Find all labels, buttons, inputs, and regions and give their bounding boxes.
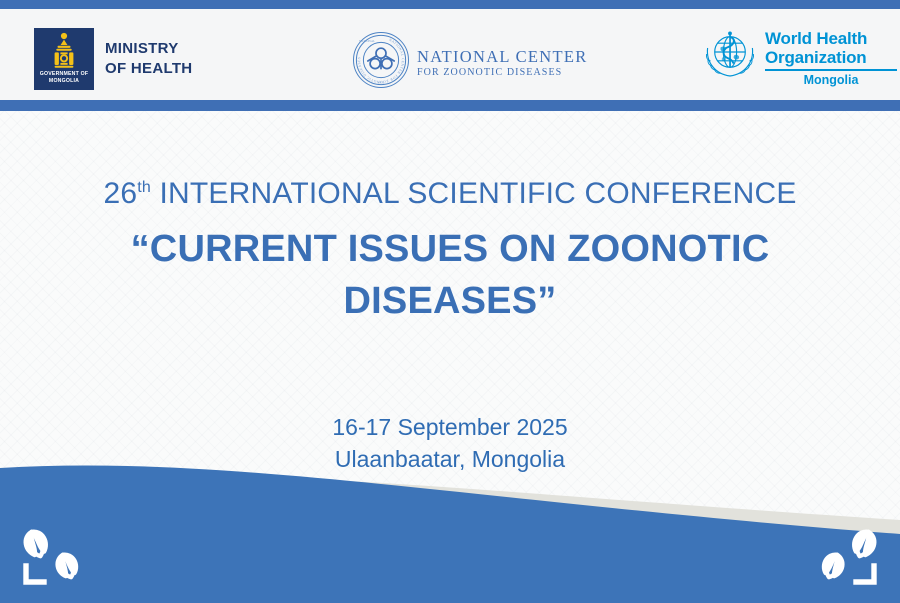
ministry-name: MINISTRY OF HEALTH: [105, 39, 192, 79]
biohazard-seal-icon: 1931 NATIONAL NATIONAL CENTER FOR ZOONOT…: [352, 31, 410, 94]
conference-title-slide: GOVERNMENT OF MONGOLIA MINISTRY OF HEALT…: [0, 0, 900, 603]
emblem-caption-line2: MONGOLIA: [34, 78, 94, 85]
event-date: 16-17 September 2025: [0, 411, 900, 443]
government-of-mongolia-emblem: GOVERNMENT OF MONGOLIA: [34, 28, 94, 90]
conference-subtitle-line: 26th INTERNATIONAL SCIENTIFIC CONFERENCE: [0, 174, 900, 214]
who-divider: [765, 69, 897, 71]
page-title: “CURRENT ISSUES ON ZOONOTIC DISEASES”: [0, 223, 900, 327]
who-rod-of-asclepius-icon: [703, 29, 757, 84]
emblem-caption-line1: GOVERNMENT OF: [34, 71, 94, 78]
top-accent-bar: [0, 0, 900, 9]
who-name: World Health Organization Mongolia: [765, 29, 897, 87]
who-name-line1: World Health: [765, 29, 897, 48]
who-name-line2: Organization: [765, 48, 897, 67]
who-country-label: Mongolia: [765, 73, 897, 87]
conference-ordinal-suffix: th: [137, 179, 151, 196]
soyombo-emblem-icon: [46, 31, 82, 76]
page-title-line1: “CURRENT ISSUES ON ZOONOTIC: [0, 223, 900, 275]
national-center-name-line2: FOR ZOONOTIC DISEASES: [417, 66, 588, 79]
page-title-line2: DISEASES”: [0, 275, 900, 327]
triquetra-knot-ornament-icon: [808, 524, 886, 591]
triquetra-knot-ornament-icon: [14, 524, 92, 591]
who-mongolia-logo: World Health Organization Mongolia: [703, 29, 897, 87]
ministry-name-line1: MINISTRY: [105, 39, 192, 59]
ministry-name-line2: OF HEALTH: [105, 59, 192, 79]
bottom-wave-decoration: [0, 458, 900, 603]
emblem-caption: GOVERNMENT OF MONGOLIA: [34, 71, 94, 85]
title-block: 26th INTERNATIONAL SCIENTIFIC CONFERENCE…: [0, 174, 900, 327]
svg-text:NATIONAL: NATIONAL: [359, 39, 375, 43]
header-divider-bar: [0, 100, 900, 111]
ministry-of-health-logo: GOVERNMENT OF MONGOLIA MINISTRY OF HEALT…: [34, 28, 192, 90]
conference-subtitle-text: INTERNATIONAL SCIENTIFIC CONFERENCE: [151, 177, 797, 210]
national-center-name: NATIONAL CENTER FOR ZOONOTIC DISEASES: [417, 47, 588, 79]
national-center-name-line1: NATIONAL CENTER: [417, 47, 588, 66]
national-center-logo: 1931 NATIONAL NATIONAL CENTER FOR ZOONOT…: [352, 31, 588, 94]
conference-ordinal-number: 26: [103, 177, 137, 210]
logo-header-band: GOVERNMENT OF MONGOLIA MINISTRY OF HEALT…: [0, 9, 900, 100]
wave-blue-layer: [0, 466, 900, 603]
